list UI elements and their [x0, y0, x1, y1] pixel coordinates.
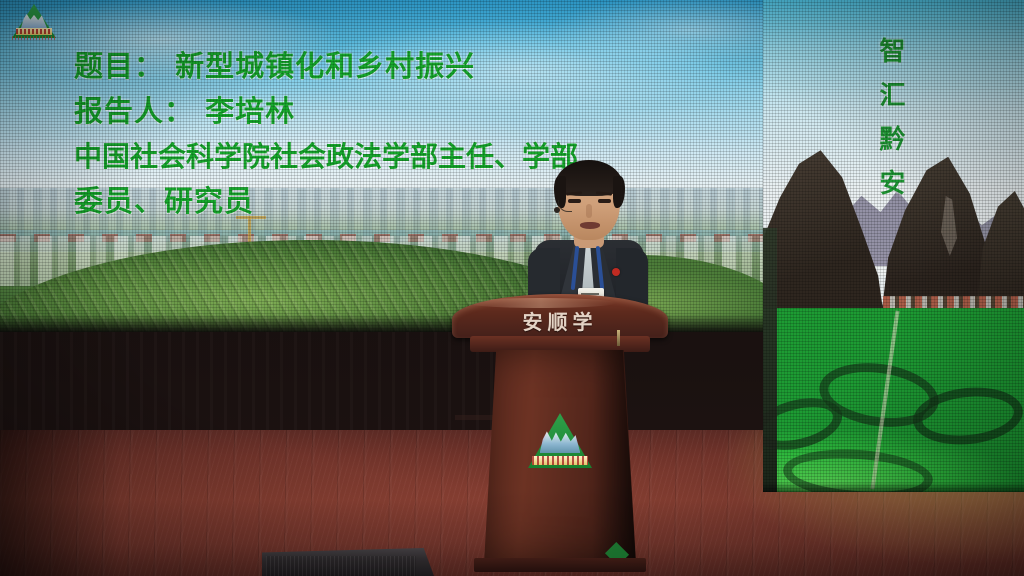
slide-line-presenter: 报告人： 李培林	[74, 89, 754, 134]
emblem-name-band-text	[532, 456, 588, 465]
stage-monitor-grille	[266, 556, 416, 576]
anshun-university-logo-icon	[8, 2, 60, 42]
presenter-hair-side-right	[613, 176, 625, 208]
podium-base	[474, 558, 646, 572]
side-vertical-slogan: 智 汇 黔 安	[763, 30, 1024, 206]
floor-left-shadow	[0, 430, 120, 576]
slogan-char-4: 安	[879, 162, 907, 206]
main-led-screen: 题目： 新型城镇化和乡村振兴 报告人： 李培林 中国社会科学院社会政法学部主任、…	[0, 0, 763, 332]
slide-line-title: 题目： 新型城镇化和乡村振兴	[74, 44, 754, 89]
side-panel-bottom-shadow	[763, 482, 1024, 492]
podium-microphone-stem	[617, 330, 620, 346]
slide-text-block: 题目： 新型城镇化和乡村振兴 报告人： 李培林 中国社会科学院社会政法学部主任、…	[74, 44, 754, 224]
logo-name-band-text	[16, 29, 52, 34]
lapel-pin-icon	[612, 268, 620, 276]
side-panel-left-strip	[763, 228, 777, 492]
presenter-eye-right	[598, 199, 611, 203]
side-led-panel: 智 汇 黔 安	[763, 0, 1024, 492]
microphone-icon	[554, 207, 560, 213]
logo-mountain-peaks	[21, 14, 47, 28]
presenter-mouth	[580, 222, 600, 229]
logo-subtitle-text	[12, 36, 56, 40]
presenter-nose	[586, 204, 592, 218]
podium-institution-name: 安顺学	[452, 306, 668, 335]
presenter	[528, 160, 648, 310]
side-field-patterns	[763, 330, 1024, 492]
speaker-podium: 安顺学	[452, 294, 668, 576]
podium-lip	[470, 336, 650, 352]
slogan-char-3: 黔	[879, 118, 907, 162]
slide-line-affiliation-2: 委员、研究员	[74, 179, 754, 224]
conference-stage-scene: 题目： 新型城镇化和乡村振兴 报告人： 李培林 中国社会科学院社会政法学部主任、…	[0, 0, 1024, 576]
slogan-char-1: 智	[879, 30, 907, 74]
slide-line-affiliation-1: 中国社会科学院社会政法学部主任、学部	[74, 134, 754, 179]
curtain-folds	[0, 320, 500, 440]
slogan-char-2: 汇	[879, 74, 907, 118]
podium-emblem-icon	[528, 412, 592, 468]
